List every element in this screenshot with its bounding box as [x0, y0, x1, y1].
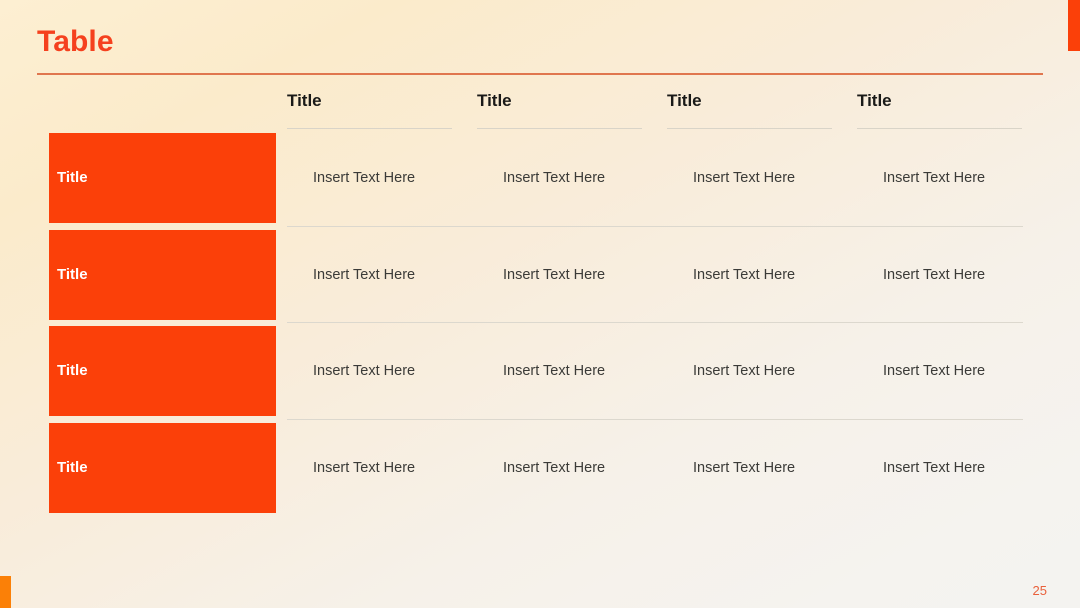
column-header-underline — [287, 128, 452, 129]
table-cell[interactable]: Insert Text Here — [503, 169, 673, 187]
slide-canvas: Table Title Title Title Title — [0, 0, 1080, 608]
table-cell[interactable]: Insert Text Here — [503, 362, 673, 380]
table: Title Title Title Title Title Insert — [0, 85, 1080, 516]
title-divider — [37, 73, 1043, 75]
table-cell[interactable]: Insert Text Here — [693, 459, 863, 477]
page-title: Table — [37, 22, 114, 62]
table-cell[interactable]: Insert Text Here — [883, 459, 1053, 477]
table-cell[interactable]: Insert Text Here — [883, 266, 1053, 284]
column-header-label: Title — [857, 85, 1022, 111]
row-label-block[interactable]: Title — [49, 133, 276, 223]
row-label-text: Title — [57, 362, 88, 380]
row-label-block[interactable]: Title — [49, 423, 276, 513]
table-column-header-4: Title — [857, 85, 1022, 129]
column-header-label: Title — [287, 85, 452, 111]
column-header-label: Title — [667, 85, 832, 111]
column-header-underline — [477, 128, 642, 129]
table-row: Title Insert Text Here Insert Text Here … — [0, 227, 1080, 324]
table-row: Title Insert Text Here Insert Text Here … — [0, 420, 1080, 517]
table-column-header-2: Title — [477, 85, 642, 129]
row-label-text: Title — [57, 169, 88, 187]
page-number: 25 — [1033, 583, 1047, 599]
column-header-underline — [667, 128, 832, 129]
row-label-block[interactable]: Title — [49, 230, 276, 320]
table-cell[interactable]: Insert Text Here — [693, 362, 863, 380]
column-header-label: Title — [477, 85, 642, 111]
row-label-text: Title — [57, 266, 88, 284]
table-column-header-3: Title — [667, 85, 832, 129]
table-cell[interactable]: Insert Text Here — [313, 169, 483, 187]
table-cell[interactable]: Insert Text Here — [503, 266, 673, 284]
table-body: Title Insert Text Here Insert Text Here … — [0, 130, 1080, 516]
table-row: Title Insert Text Here Insert Text Here … — [0, 130, 1080, 227]
table-cell[interactable]: Insert Text Here — [883, 169, 1053, 187]
table-row: Title Insert Text Here Insert Text Here … — [0, 323, 1080, 420]
row-label-block[interactable]: Title — [49, 326, 276, 416]
table-cell[interactable]: Insert Text Here — [883, 362, 1053, 380]
bottom-left-accent-bar — [0, 576, 11, 608]
table-cell[interactable]: Insert Text Here — [503, 459, 673, 477]
table-cell[interactable]: Insert Text Here — [693, 169, 863, 187]
table-cell[interactable]: Insert Text Here — [313, 266, 483, 284]
table-column-header-1: Title — [287, 85, 452, 129]
table-cell[interactable]: Insert Text Here — [693, 266, 863, 284]
top-right-accent-bar — [1068, 0, 1080, 51]
row-label-text: Title — [57, 459, 88, 477]
table-cell[interactable]: Insert Text Here — [313, 459, 483, 477]
table-cell[interactable]: Insert Text Here — [313, 362, 483, 380]
column-header-underline — [857, 128, 1022, 129]
table-header-row: Title Title Title Title — [0, 85, 1080, 130]
